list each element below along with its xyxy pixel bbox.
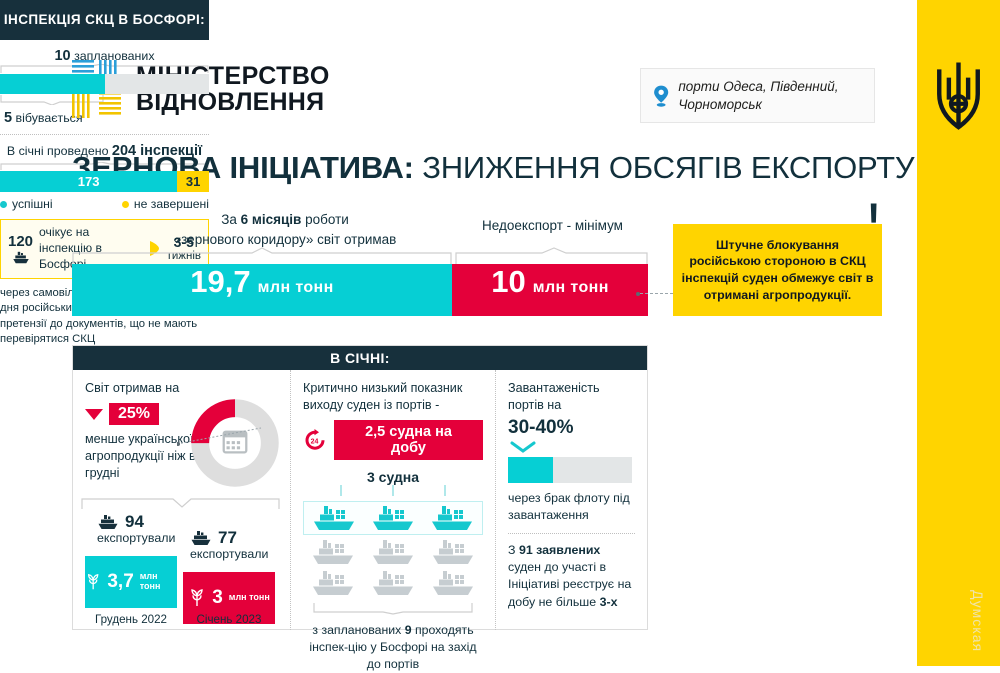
ports-badge: порти Одеса, Південний, Чорноморськ — [640, 68, 875, 123]
col2-foot-pre: з запланованих — [312, 623, 404, 637]
january-col-departures: Критично низький показник виходу суден і… — [291, 370, 496, 630]
legend-dot-teal — [0, 201, 7, 208]
january-panel: В СІЧНІ: Світ отримав на 25% менше украї… — [72, 345, 648, 630]
waiting-count: 120 — [8, 233, 33, 250]
bar-shortfall-value: 10 — [491, 264, 525, 300]
split-successful: 173 — [0, 171, 177, 192]
planned-count: 10 — [54, 48, 70, 64]
col3-lead: Завантаженість портів на — [508, 380, 635, 414]
caption-left-pre: За — [221, 212, 240, 227]
wheat-icon — [85, 573, 101, 591]
caption-left-bold: 6 місяців — [241, 212, 302, 227]
wheat-icon — [188, 589, 206, 607]
left-bar-caption: За 6 місяців роботи «зернового коридору»… — [135, 210, 435, 249]
bar-shortfall-unit: млн тонн — [533, 279, 609, 297]
ship-icon — [312, 504, 356, 532]
stat-january-value: 77 — [218, 528, 237, 548]
ship-icon — [11, 251, 31, 264]
right-bar-caption: Недоекспорт - мінімум — [455, 218, 650, 233]
clock-24h-icon: 24 — [303, 428, 327, 452]
departure-rate: 2,5 судна на добу — [334, 420, 483, 460]
stat-december-ships: 94 — [97, 512, 144, 532]
legend-item-successful: успішні — [0, 197, 53, 211]
skc-divider-1 — [0, 134, 209, 135]
rate-row: 24 2,5 судна на добу — [303, 420, 483, 460]
donut-leader-line — [177, 426, 267, 448]
stat-january-sub: експортували — [190, 547, 268, 561]
svg-text:24: 24 — [311, 439, 319, 446]
col3-divider — [508, 533, 635, 534]
alert-box: Штучне блокування російською стороною в … — [673, 224, 882, 316]
ships-row-active — [303, 501, 483, 535]
legend-dot-yellow — [122, 201, 129, 208]
ship-icon — [431, 569, 475, 597]
january-col-load: Завантаженість портів на 30-40% через бр… — [496, 370, 647, 630]
month-january-label: Січень 2023 — [183, 613, 275, 626]
reg-note-bold: 91 заявлених — [519, 543, 600, 557]
reg-note-pre: З — [508, 543, 519, 557]
ships-top-connectors — [315, 485, 471, 497]
legend-label-incomplete: не завершені — [134, 197, 209, 211]
registration-note: З 91 заявлених суден до участі в Ініціат… — [508, 542, 635, 610]
month-december-unit: млн тонн — [140, 572, 177, 592]
col2-footer: з запланованих 9 проходять інспек-цію у … — [303, 622, 483, 673]
month-december-label: Грудень 2022 — [85, 613, 177, 626]
planned-bar-fill — [0, 74, 105, 94]
port-load-bar — [508, 457, 632, 483]
ship-icon — [430, 504, 474, 532]
january-col-volume: Світ отримав на 25% менше української аг… — [73, 370, 291, 630]
bar-shortfall: 10 млн тонн — [452, 264, 648, 316]
location-pin-icon — [653, 81, 669, 111]
inspections-split-bar: 173 31 — [0, 171, 209, 192]
legend-label-successful: успішні — [12, 197, 53, 211]
ship-icon — [371, 569, 415, 597]
january-panel-header: В СІЧНІ: — [73, 346, 647, 370]
ships-bottom-brace — [313, 602, 473, 615]
alert-connector-line — [640, 293, 673, 294]
planned-vs-actual-bar — [0, 74, 209, 94]
port-load-bar-fill — [508, 457, 553, 483]
port-load-note: через брак флоту під завантаження — [508, 490, 635, 524]
skc-panel-header: ІНСПЕКЦІЯ СКЦ В БОСФОРІ: — [0, 0, 209, 40]
bar-exported-value: 19,7 — [190, 264, 250, 300]
col2-foot-bold: 9 — [405, 623, 412, 637]
legend-item-incomplete: не завершені — [122, 197, 209, 211]
month-january-value: 3 — [212, 587, 223, 609]
caption-left-post: роботи — [301, 212, 348, 227]
ship-icon — [311, 569, 355, 597]
actual-count: 5 — [4, 110, 12, 126]
ships-active-title: 3 судна — [303, 469, 483, 485]
ships-row-idle-1 — [303, 538, 483, 566]
decline-pct: 25% — [109, 403, 159, 425]
month-january-unit: млн тонн — [229, 593, 270, 603]
month-december-value: 3,7 — [107, 571, 133, 593]
month-box-december: 3,7 млн тонн — [85, 556, 177, 608]
col2-lead: Критично низький показник виходу суден і… — [303, 380, 483, 414]
col1-lead: Світ отримав на — [85, 380, 278, 397]
ship-icon — [371, 538, 415, 566]
bar-exported-unit: млн тонн — [258, 279, 334, 297]
port-load-value: 30-40% — [508, 417, 635, 439]
ports-badge-text: порти Одеса, Південний, Чорноморськ — [678, 78, 862, 114]
chevron-down-icon — [510, 441, 536, 453]
caption-left-line2: «зернового коридору» світ отримав — [174, 232, 397, 247]
page-title-rest: ЗНИЖЕННЯ ОБСЯГІВ ЕКСПОРТУ — [414, 150, 915, 185]
ship-icon — [190, 530, 212, 546]
stat-december-sub: експортували — [97, 531, 175, 545]
triangle-down-icon — [85, 409, 103, 420]
ship-icon — [311, 538, 355, 566]
ship-icon — [371, 504, 415, 532]
bar-exported: 19,7 млн тонн — [72, 264, 452, 316]
ships-row-idle-2 — [303, 569, 483, 597]
stat-january-ships: 77 — [190, 528, 237, 548]
split-incomplete: 31 — [177, 171, 209, 192]
stat-december-value: 94 — [125, 512, 144, 532]
ship-icon — [431, 538, 475, 566]
months-brace — [81, 496, 281, 510]
reg-note-bold2: 3-х — [600, 595, 618, 609]
ship-icon — [97, 514, 119, 530]
waiting-count-group: 120 — [8, 233, 33, 264]
inspections-legend: успішні не завершені — [0, 197, 209, 211]
ukraine-trident-icon — [931, 58, 986, 133]
ships-grid — [303, 501, 483, 597]
watermark: Думская — [970, 590, 986, 652]
